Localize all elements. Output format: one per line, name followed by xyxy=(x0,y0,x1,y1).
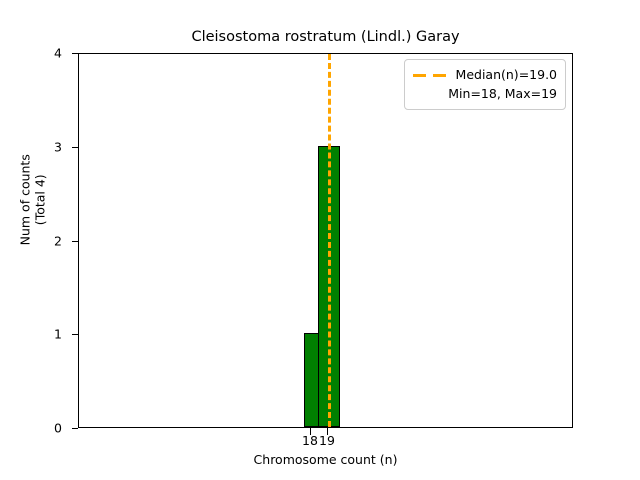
chart-title: Cleisostoma rostratum (Lindl.) Garay xyxy=(78,29,573,45)
y-tick-label-0: 0 xyxy=(2,421,62,436)
legend-entry-median: Median(n)=19.0 xyxy=(413,65,557,84)
legend-label-median: Median(n)=19.0 xyxy=(456,67,557,82)
median-line xyxy=(328,54,331,427)
legend-entry-minmax: Min=18, Max=19 xyxy=(413,84,557,103)
legend: Median(n)=19.0 Min=18, Max=19 xyxy=(404,59,566,110)
legend-label-minmax: Min=18, Max=19 xyxy=(448,86,557,101)
y-tick-label-4: 4 xyxy=(2,46,62,61)
x-tick-label-19: 19 xyxy=(307,433,347,448)
plot-area: Median(n)=19.0 Min=18, Max=19 xyxy=(78,53,573,428)
y-axis-label: Num of counts (Total 4) xyxy=(18,60,48,340)
matplotlib-figure: Cleisostoma rostratum (Lindl.) Garay 0 1… xyxy=(0,0,640,480)
y-tick-mark-0 xyxy=(72,428,79,429)
x-axis-label: Chromosome count (n) xyxy=(78,452,573,467)
dashed-line-icon xyxy=(413,69,447,81)
